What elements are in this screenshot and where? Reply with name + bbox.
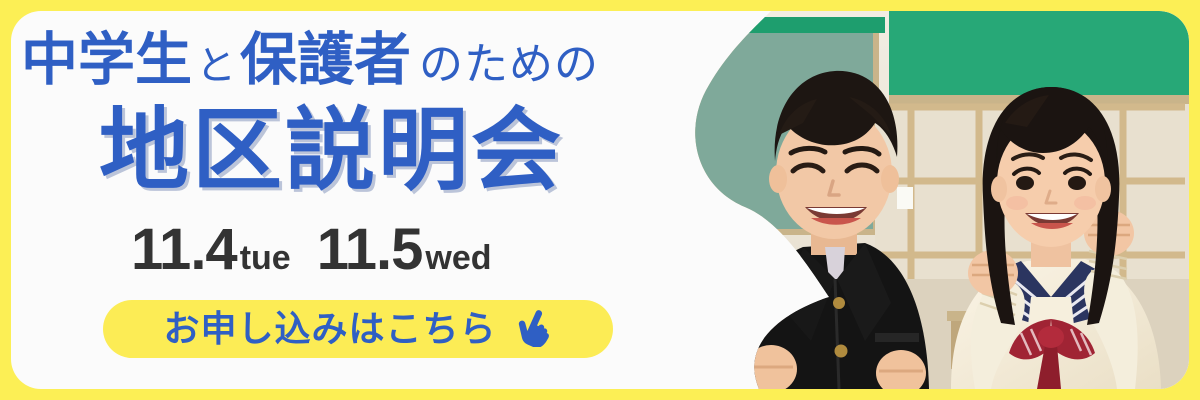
banner-panel: 中学生と保護者のための 地区説明会 11.4tue11.5wed お申し込みはこ… xyxy=(11,11,1189,389)
headline-segment-students: 中学生 xyxy=(21,24,192,96)
date-1-number: 11.4 xyxy=(131,217,237,282)
students-photo xyxy=(679,11,1189,389)
students-photo-artwork xyxy=(679,11,1189,389)
banner-root: 中学生と保護者のための 地区説明会 11.4tue11.5wed お申し込みはこ… xyxy=(0,0,1200,400)
date-2-weekday: wed xyxy=(422,239,491,277)
pointing-hand-icon xyxy=(513,307,553,352)
event-dates: 11.4tue11.5wed xyxy=(131,219,492,281)
headline-conjunction: と xyxy=(192,30,240,102)
banner-text-column: 中学生と保護者のための 地区説明会 11.4tue11.5wed お申し込みはこ… xyxy=(11,11,711,389)
headline-suffix: のための xyxy=(411,29,599,101)
date-1-weekday: tue xyxy=(237,239,291,277)
apply-button[interactable]: お申し込みはこちら xyxy=(103,300,613,358)
headline-line-2: 地区説明会 xyxy=(99,103,709,199)
headline-segment-guardians: 保護者 xyxy=(240,24,411,96)
apply-button-label: お申し込みはこちら xyxy=(163,311,496,347)
headline-line-1: 中学生と保護者のための xyxy=(21,24,711,96)
date-2-number: 11.5 xyxy=(317,217,423,282)
